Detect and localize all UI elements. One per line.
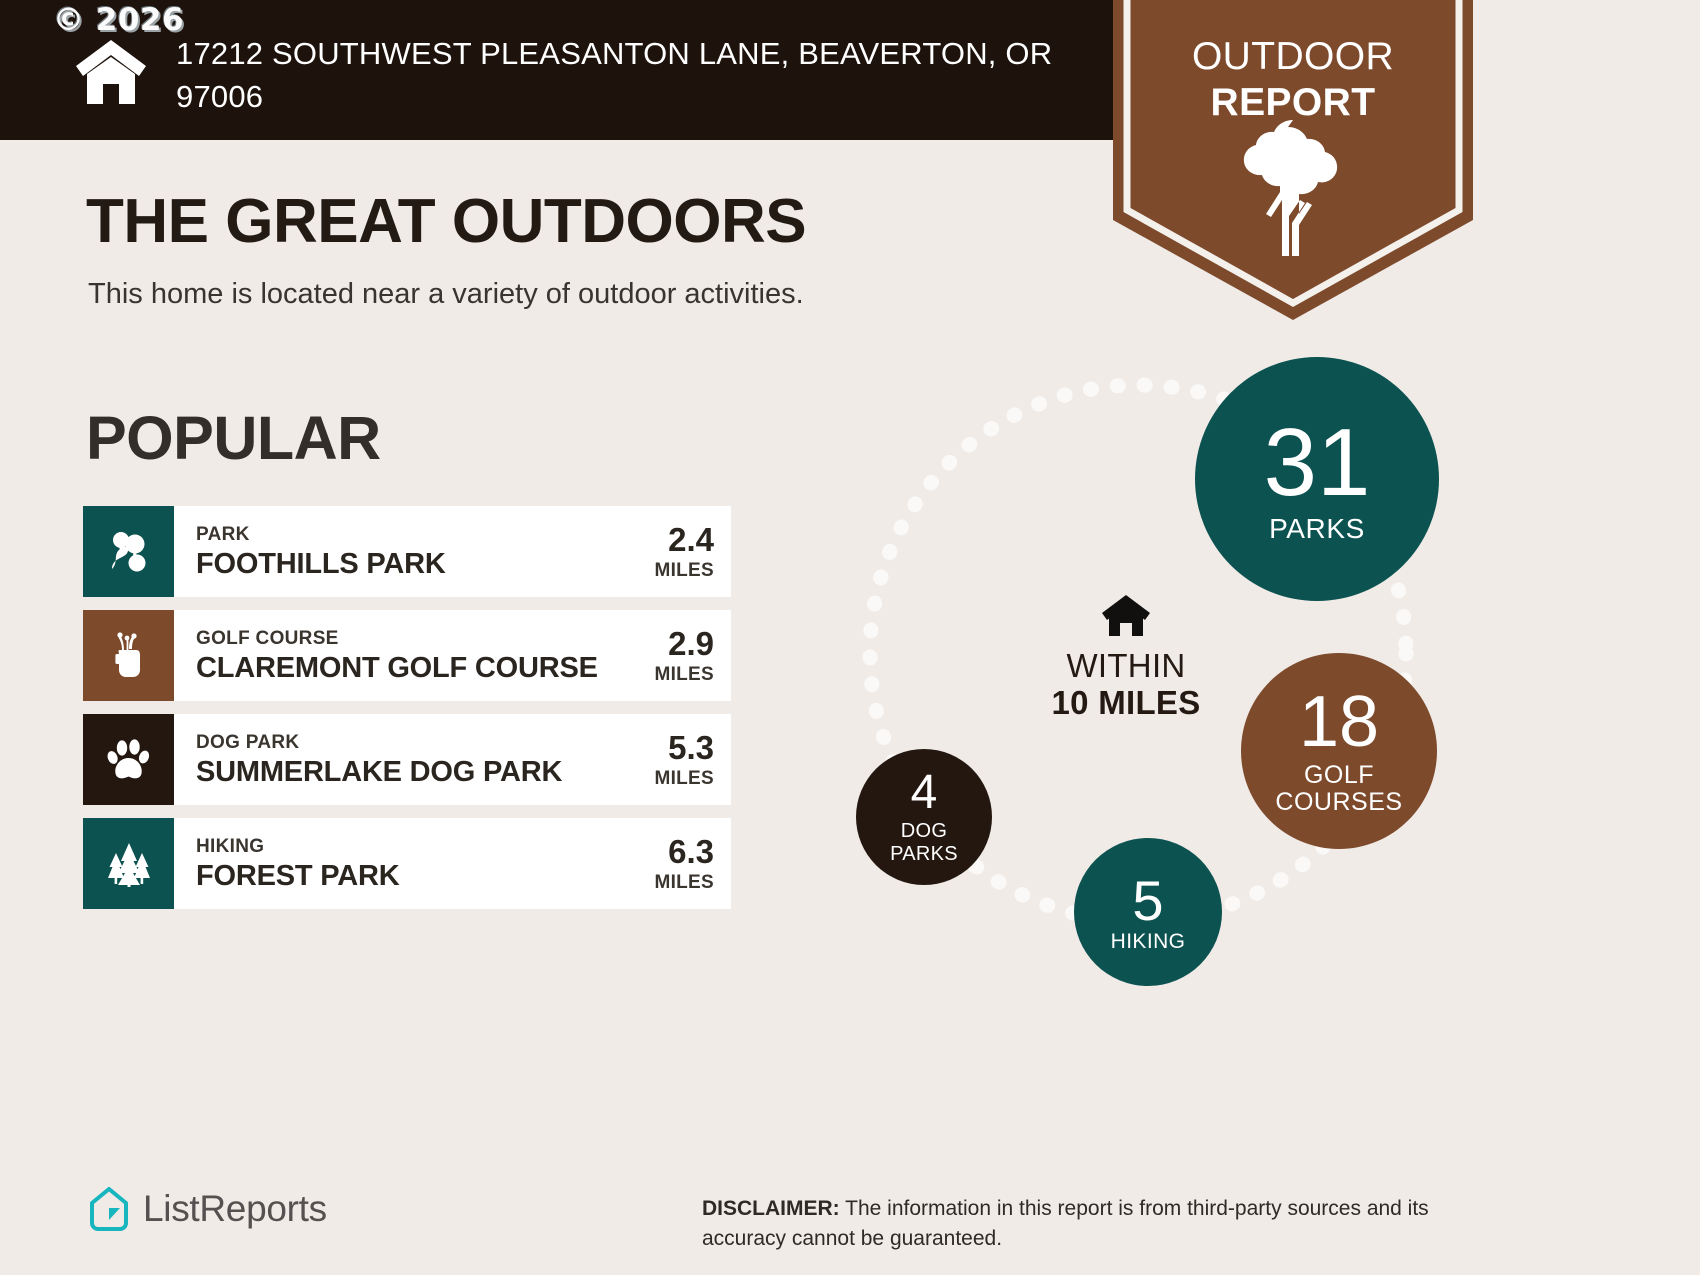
paw-print-icon — [104, 735, 154, 785]
property-address: 17212 SOUTHWEST PLEASANTON LANE, BEAVERT… — [176, 33, 1076, 119]
badge-line-1: OUTDOOR — [1113, 34, 1473, 80]
park-trees-icon — [104, 527, 154, 577]
listreports-logo[interactable]: ListReports — [88, 1186, 327, 1232]
page-subtitle: This home is located near a variety of o… — [88, 278, 804, 311]
bubble-dog-parks-label-line-1: DOG — [901, 820, 947, 842]
list-item[interactable]: DOG PARK SUMMERLAKE DOG PARK 5.3 MILES — [83, 714, 731, 805]
bubble-golf-label: GOLF COURSES — [1275, 762, 1402, 817]
golf-icon-tile — [83, 610, 174, 701]
park-icon-tile — [83, 506, 174, 597]
outdoor-report-page: 17212 SOUTHWEST PLEASANTON LANE, BEAVERT… — [0, 0, 1700, 1275]
list-item-texts: DOG PARK SUMMERLAKE DOG PARK — [196, 733, 562, 787]
list-item-name: FOREST PARK — [196, 862, 400, 891]
bubble-hiking-value: 5 — [1132, 873, 1163, 929]
bubble-hiking: 5 HIKING — [1074, 838, 1222, 986]
list-item-distance-unit: MILES — [654, 664, 714, 685]
disclaimer-label: DISCLAIMER: — [702, 1197, 840, 1220]
list-item-distance-value: 6.3 — [628, 835, 714, 868]
page-title: THE GREAT OUTDOORS — [86, 186, 806, 257]
list-item-distance-value: 2.4 — [628, 523, 714, 556]
list-item-distance: 5.3 MILES — [628, 731, 714, 788]
list-item-category: HIKING — [196, 837, 400, 856]
list-item-texts: GOLF COURSE CLAREMONT GOLF COURSE — [196, 629, 598, 683]
bubble-dog-parks-label-line-2: PARKS — [890, 843, 958, 865]
dog-park-icon-tile — [83, 714, 174, 805]
golf-bag-icon — [104, 631, 154, 681]
list-item-name: CLAREMONT GOLF COURSE — [196, 654, 598, 683]
list-item[interactable]: PARK FOOTHILLS PARK 2.4 MILES — [83, 506, 731, 597]
list-item-texts: HIKING FOREST PARK — [196, 837, 400, 891]
bubble-dog-parks-value: 4 — [911, 769, 938, 817]
diagram-center-label: WITHIN 10 MILES — [1026, 593, 1226, 722]
diagram-center-line-1: WITHIN — [1026, 648, 1226, 685]
pine-trees-icon — [103, 839, 155, 889]
badge-label: OUTDOOR REPORT — [1113, 34, 1473, 126]
list-item-body: DOG PARK SUMMERLAKE DOG PARK 5.3 MILES — [174, 714, 731, 805]
list-item-distance-unit: MILES — [654, 872, 714, 893]
bubble-parks-value: 31 — [1264, 415, 1371, 511]
bubble-golf-value: 18 — [1299, 686, 1379, 758]
list-item-distance-unit: MILES — [654, 768, 714, 789]
list-item-distance: 2.9 MILES — [628, 627, 714, 684]
bubble-dog-parks: 4 DOG PARKS — [856, 749, 992, 885]
home-icon — [72, 32, 150, 110]
home-icon — [1100, 593, 1152, 637]
badge-line-2: REPORT — [1113, 80, 1473, 126]
list-item-distance-value: 2.9 — [628, 627, 714, 660]
list-item-category: GOLF COURSE — [196, 629, 598, 648]
list-item-distance-unit: MILES — [654, 560, 714, 581]
hiking-icon-tile — [83, 818, 174, 909]
list-item-distance: 2.4 MILES — [628, 523, 714, 580]
list-item-distance: 6.3 MILES — [628, 835, 714, 892]
bubble-parks-label: PARKS — [1269, 515, 1365, 543]
list-item-name: SUMMERLAKE DOG PARK — [196, 758, 562, 787]
outdoor-report-badge: OUTDOOR REPORT — [1113, 0, 1473, 320]
bubble-parks: 31 PARKS — [1195, 357, 1439, 601]
list-item[interactable]: GOLF COURSE CLAREMONT GOLF COURSE 2.9 MI… — [83, 610, 731, 701]
bubble-dog-parks-label: DOG PARKS — [890, 820, 958, 865]
list-item-texts: PARK FOOTHILLS PARK — [196, 525, 446, 579]
list-item-name: FOOTHILLS PARK — [196, 550, 446, 579]
bubble-golf-label-line-1: GOLF — [1304, 761, 1374, 789]
bubble-golf-label-line-2: COURSES — [1275, 788, 1402, 816]
list-item-category: PARK — [196, 525, 446, 544]
popular-list: PARK FOOTHILLS PARK 2.4 MILES — [83, 506, 731, 922]
listreports-logo-text: ListReports — [143, 1188, 327, 1230]
bubble-golf-courses: 18 GOLF COURSES — [1241, 653, 1437, 849]
list-item-category: DOG PARK — [196, 733, 562, 752]
list-item[interactable]: HIKING FOREST PARK 6.3 MILES — [83, 818, 731, 909]
diagram-center-line-2: 10 MILES — [1026, 685, 1226, 722]
disclaimer: DISCLAIMER: The information in this repo… — [702, 1194, 1492, 1254]
within-10-miles-diagram: WITHIN 10 MILES 31 PARKS 18 GOLF COURSES… — [830, 345, 1510, 1025]
popular-heading: POPULAR — [86, 403, 381, 473]
bubble-hiking-label: HIKING — [1111, 931, 1186, 952]
list-item-body: HIKING FOREST PARK 6.3 MILES — [174, 818, 731, 909]
list-item-distance-value: 5.3 — [628, 731, 714, 764]
list-item-body: PARK FOOTHILLS PARK 2.4 MILES — [174, 506, 731, 597]
list-item-body: GOLF COURSE CLAREMONT GOLF COURSE 2.9 MI… — [174, 610, 731, 701]
listreports-house-logo-icon — [88, 1186, 130, 1232]
copyright-watermark: © 2026 — [53, 2, 184, 38]
